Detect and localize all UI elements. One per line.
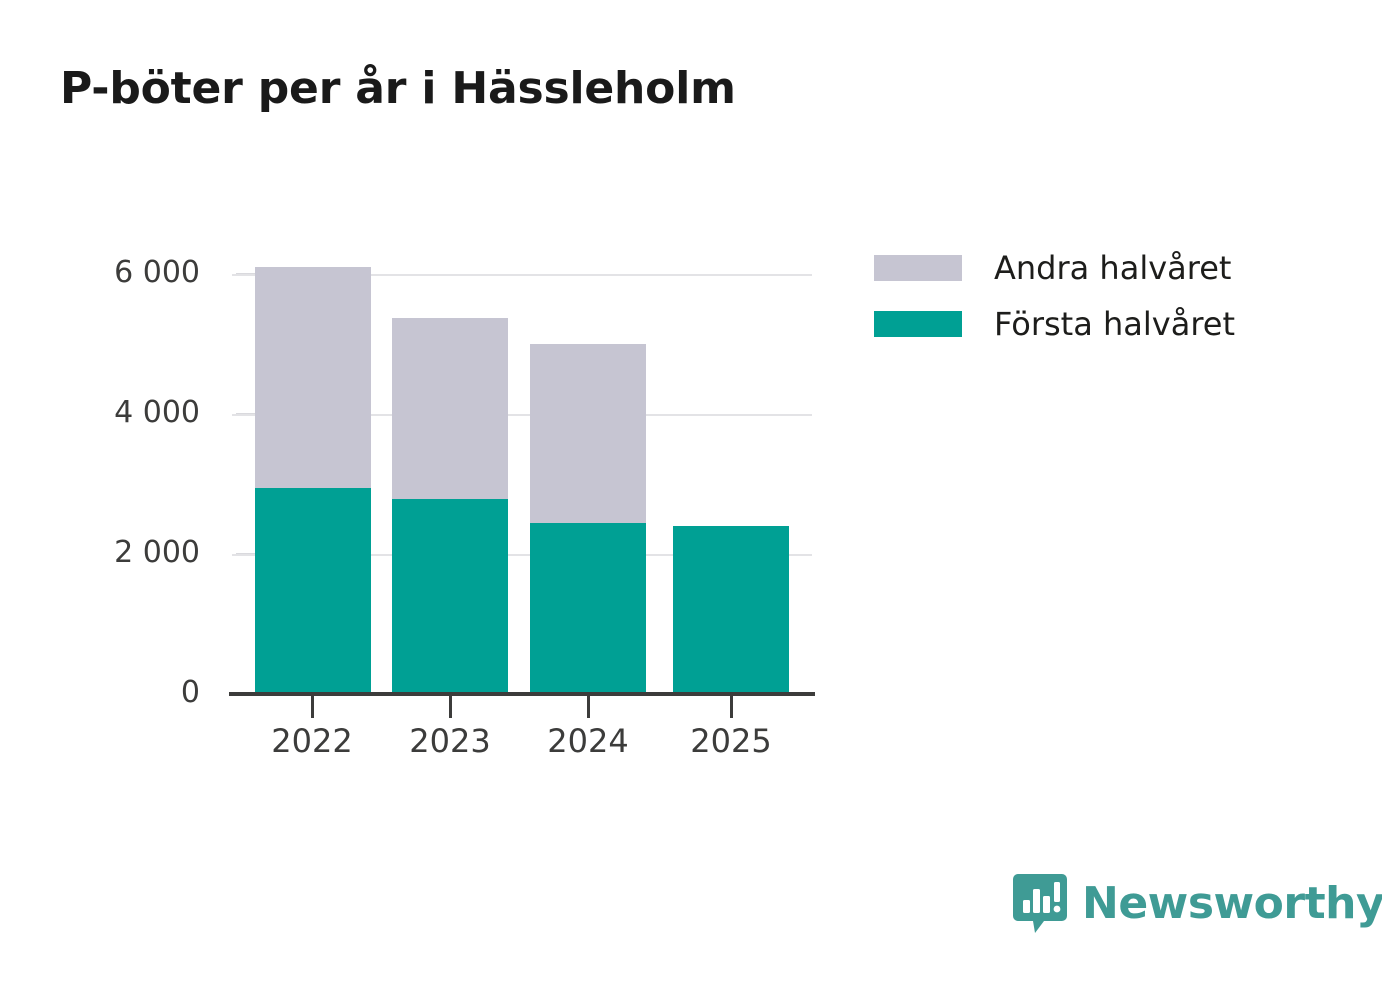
- y-axis-label-4000: 4 000: [50, 398, 200, 428]
- legend-swatch-andra-halvaret: [874, 255, 962, 281]
- bar-segment-andra-halvaret-2022[interactable]: [255, 267, 371, 488]
- y-axis-label-6000: 6 000: [50, 258, 200, 288]
- x-axis-label-2025: 2025: [651, 722, 811, 760]
- bar-stack-2023[interactable]: [392, 318, 508, 694]
- legend-item-andra-halvaret[interactable]: Andra halvåret: [874, 240, 1235, 296]
- x-axis-label-2024: 2024: [508, 722, 668, 760]
- bar-segment-andra-halvaret-2023[interactable]: [392, 318, 508, 499]
- chart-legend: Andra halvåret Första halvåret: [874, 240, 1235, 352]
- legend-label-andra-halvaret: Andra halvåret: [994, 249, 1231, 287]
- x-axis-line: [229, 692, 815, 696]
- legend-swatch-forsta-halvaret: [874, 311, 962, 337]
- legend-label-forsta-halvaret: Första halvåret: [994, 305, 1235, 343]
- x-axis-tick-2024: [587, 696, 590, 718]
- x-axis-tick-2022: [311, 696, 314, 718]
- x-axis-label-2023: 2023: [370, 722, 530, 760]
- newsworthy-wordmark: Newsworthy: [1082, 882, 1382, 926]
- bar-segment-forsta-halvaret-2024[interactable]: [530, 523, 646, 694]
- legend-item-forsta-halvaret[interactable]: Första halvåret: [874, 296, 1235, 352]
- plot-area: [232, 274, 812, 694]
- bar-segment-forsta-halvaret-2025[interactable]: [673, 526, 789, 694]
- x-axis-tick-2023: [449, 696, 452, 718]
- y-axis-label-0: 0: [50, 678, 200, 708]
- bar-stack-2022[interactable]: [255, 267, 371, 694]
- bar-segment-forsta-halvaret-2023[interactable]: [392, 499, 508, 694]
- bar-stack-2025[interactable]: [673, 526, 789, 694]
- y-axis: 6 000 4 000 2 000 0: [40, 0, 200, 999]
- bar-stack-2024[interactable]: [530, 344, 646, 694]
- bar-segment-andra-halvaret-2024[interactable]: [530, 344, 646, 523]
- x-axis-label-2022: 2022: [232, 722, 392, 760]
- newsworthy-logo: Newsworthy: [1012, 872, 1382, 936]
- y-axis-label-2000: 2 000: [50, 538, 200, 568]
- bar-segment-forsta-halvaret-2022[interactable]: [255, 488, 371, 695]
- x-axis-tick-2025: [730, 696, 733, 718]
- speech-bubble-bar-chart-icon: [1012, 872, 1068, 936]
